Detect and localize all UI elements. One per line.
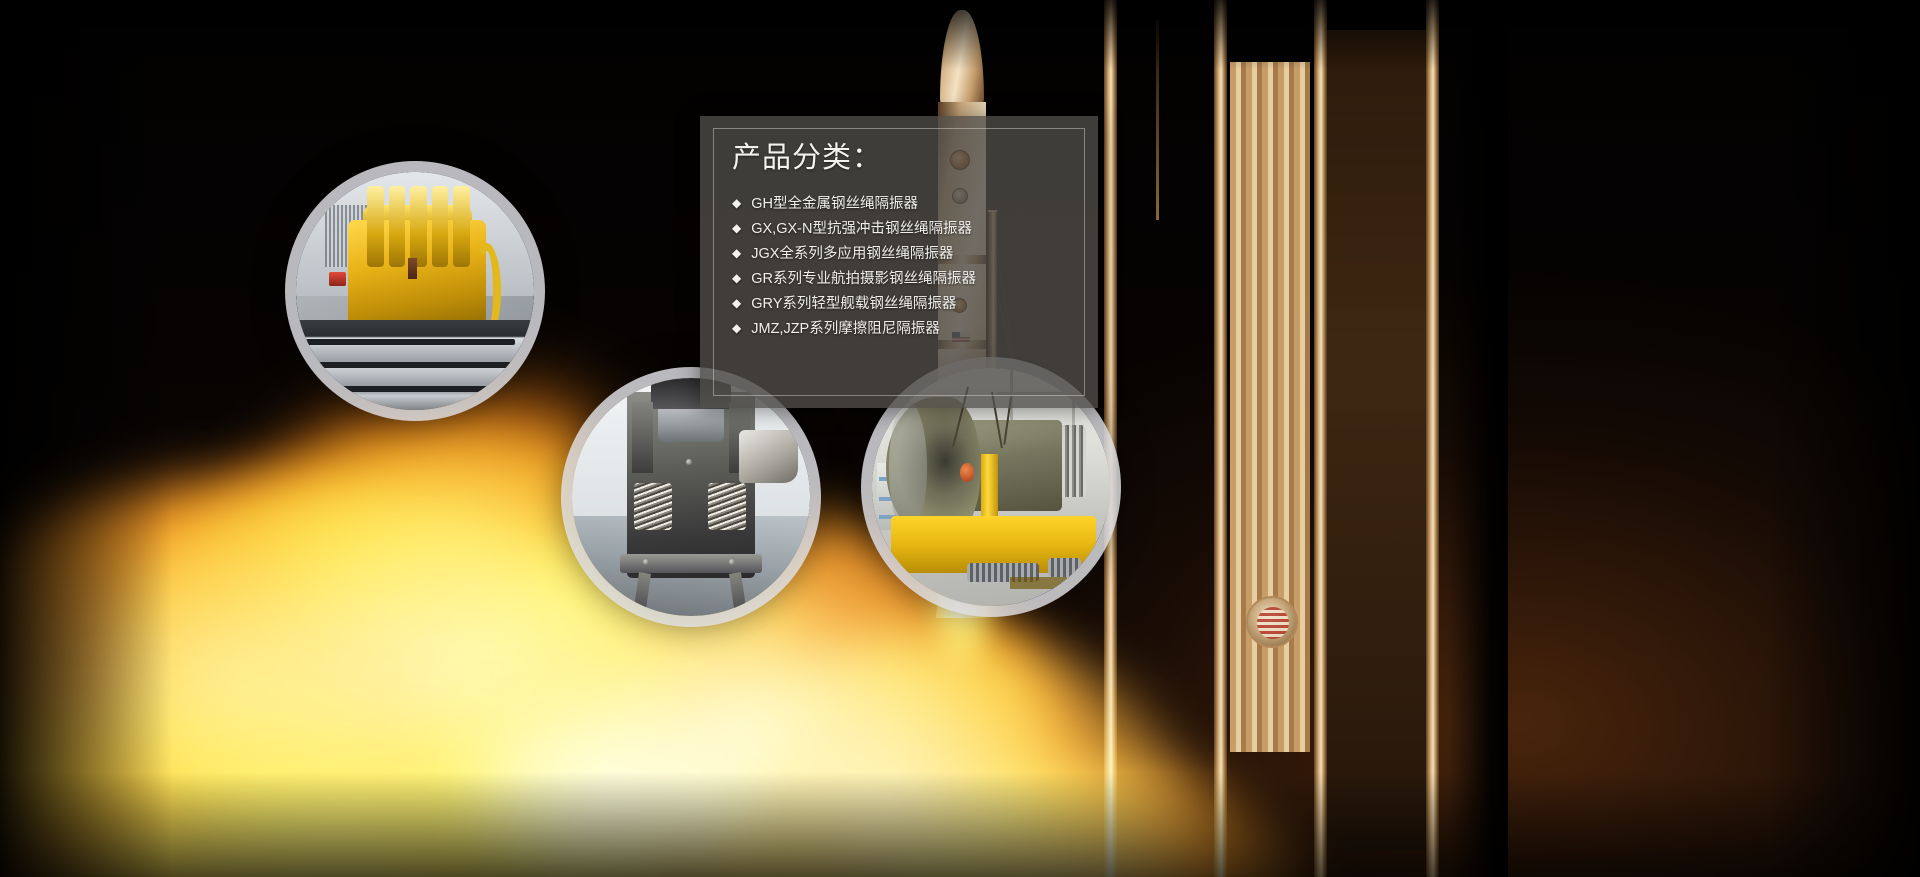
product-category-list: ◆ GH型全金属钢丝绳隔振器 ◆ GX,GX-N型抗强冲击钢丝绳隔振器 ◆ JG… bbox=[732, 192, 1084, 342]
diamond-bullet-icon: ◆ bbox=[732, 247, 741, 259]
tower-column bbox=[1314, 0, 1327, 877]
diamond-bullet-icon: ◆ bbox=[732, 197, 741, 209]
product-category-panel: 产品分类： ◆ GH型全金属钢丝绳隔振器 ◆ GX,GX-N型抗强冲击钢丝绳隔振… bbox=[700, 116, 1098, 408]
list-item[interactable]: ◆ JGX全系列多应用钢丝绳隔振器 bbox=[732, 242, 1084, 267]
banner-stage: Delta bbox=[0, 0, 1920, 877]
tower-panel-wall bbox=[1230, 62, 1310, 752]
diamond-bullet-icon: ◆ bbox=[732, 297, 741, 309]
list-item[interactable]: ◆ JMZ,JZP系列摩擦阻尼隔振器 bbox=[732, 317, 1084, 342]
list-item-label: GX,GX-N型抗强冲击钢丝绳隔振器 bbox=[751, 222, 972, 237]
list-item-label: JGX全系列多应用钢丝绳隔振器 bbox=[751, 247, 953, 262]
panel-title: 产品分类： bbox=[732, 143, 1084, 175]
list-item-label: JMZ,JZP系列摩擦阻尼隔振器 bbox=[751, 322, 940, 337]
list-item-label: GR系列专业航拍摄影钢丝绳隔振器 bbox=[751, 272, 976, 287]
diamond-bullet-icon: ◆ bbox=[732, 322, 741, 334]
diamond-bullet-icon: ◆ bbox=[732, 272, 741, 284]
product-photo-diesel-generator bbox=[296, 172, 534, 410]
list-item[interactable]: ◆ GR系列专业航拍摄影钢丝绳隔振器 bbox=[732, 267, 1084, 292]
list-item-label: GH型全金属钢丝绳隔振器 bbox=[751, 197, 918, 212]
list-item[interactable]: ◆ GX,GX-N型抗强冲击钢丝绳隔振器 bbox=[732, 217, 1084, 242]
tower-dark-wall bbox=[1320, 30, 1428, 850]
tower-edge-shadow bbox=[1448, 0, 1508, 877]
tower-column bbox=[1426, 0, 1439, 877]
tower-lightning-mast bbox=[1156, 20, 1159, 220]
tower-emblem bbox=[1246, 596, 1298, 648]
panel-inner-border: 产品分类： ◆ GH型全金属钢丝绳隔振器 ◆ GX,GX-N型抗强冲击钢丝绳隔振… bbox=[713, 128, 1085, 396]
diamond-bullet-icon: ◆ bbox=[732, 222, 741, 234]
rocket-nose-cone bbox=[940, 10, 984, 106]
list-item[interactable]: ◆ GH型全金属钢丝绳隔振器 bbox=[732, 192, 1084, 217]
tower-column bbox=[1214, 0, 1227, 877]
list-item-label: GRY系列轻型舰载钢丝绳隔振器 bbox=[751, 297, 956, 312]
list-item[interactable]: ◆ GRY系列轻型舰载钢丝绳隔振器 bbox=[732, 292, 1084, 317]
product-photo-wire-rope-isolator bbox=[572, 378, 810, 616]
